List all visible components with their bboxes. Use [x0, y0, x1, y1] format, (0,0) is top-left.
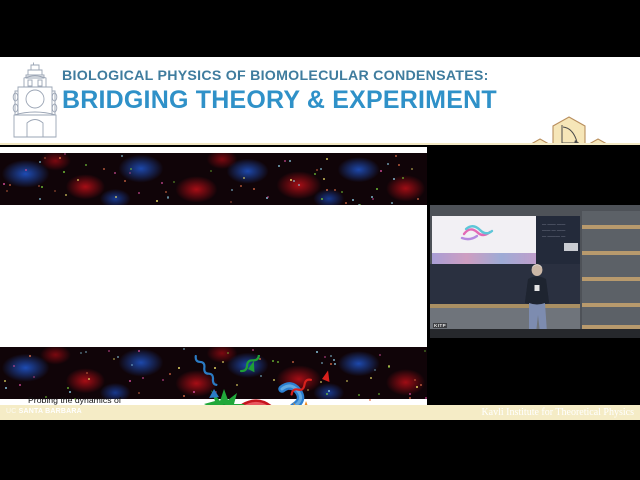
ucsb-label: SANTA BARBARA — [19, 408, 82, 415]
texture-speck — [346, 380, 348, 382]
texture-speck — [379, 354, 381, 356]
texture-speck — [88, 378, 90, 380]
texture-speck — [326, 158, 328, 160]
texture-speck — [278, 165, 280, 167]
texture-speck — [59, 157, 61, 159]
texture-speck — [420, 384, 422, 386]
texture-speck — [108, 350, 110, 352]
texture-speck — [117, 356, 119, 358]
texture-speck — [5, 387, 7, 389]
texture-speck — [129, 172, 131, 174]
texture-speck — [358, 394, 360, 396]
texture-speck — [173, 181, 175, 183]
texture-speck — [398, 164, 400, 166]
texture-speck — [289, 160, 291, 162]
texture-speck — [326, 189, 328, 191]
texture-speck — [402, 177, 404, 179]
texture-speck — [44, 157, 46, 159]
texture-speck — [85, 351, 87, 353]
texture-speck — [183, 348, 185, 350]
letterbox-top — [0, 0, 640, 57]
page-title: BIOLOGICAL PHYSICS OF BIOMOLECULAR CONDE… — [62, 67, 517, 115]
science-hexagon-icons — [520, 115, 638, 145]
texture-speck — [374, 369, 376, 371]
texture-speck — [293, 180, 295, 182]
video-frame: BIOLOGICAL PHYSICS OF BIOMOLECULAR CONDE… — [0, 0, 640, 480]
texture-speck — [409, 397, 411, 399]
ucsb-wordmark: UC SANTA BARBARA — [6, 408, 82, 415]
shelf-4 — [582, 303, 640, 307]
conference-header-banner: BIOLOGICAL PHYSICS OF BIOMOLECULAR CONDE… — [0, 57, 640, 145]
texture-speck — [85, 164, 87, 166]
texture-speck — [39, 161, 41, 163]
wall-shelving-unit — [582, 211, 640, 338]
texture-speck — [409, 393, 411, 395]
texture-speck — [227, 352, 229, 354]
texture-speck — [416, 386, 418, 388]
presentation-slide: Probing the dynamics of biomolecular com… — [0, 147, 427, 405]
shelf-1 — [582, 225, 640, 229]
texture-speck — [63, 171, 65, 173]
texture-speck — [64, 153, 66, 155]
ucsb-prefix: UC — [6, 408, 17, 415]
projected-slide-band — [432, 253, 536, 264]
kitp-watermark: KITP — [433, 323, 447, 328]
texture-speck — [298, 184, 300, 186]
texture-speck — [156, 200, 158, 202]
texture-speck — [77, 179, 79, 181]
texture-speck — [388, 365, 390, 367]
texture-speck — [334, 189, 336, 191]
texture-speck — [352, 199, 354, 201]
shelf-3 — [582, 277, 640, 281]
texture-speck — [138, 392, 140, 394]
texture-speck — [80, 352, 82, 354]
texture-speck — [142, 377, 144, 379]
coacervate-texture-band-top — [0, 153, 427, 205]
texture-speck — [41, 186, 43, 188]
texture-speck — [320, 168, 322, 170]
texture-speck — [165, 191, 167, 193]
blackboard-poster — [564, 243, 578, 251]
texture-speck — [316, 169, 318, 171]
texture-speck — [67, 387, 69, 389]
speaker-figure — [522, 263, 552, 335]
texture-speck — [243, 177, 245, 179]
polyelectrolyte-complex-illustration — [178, 355, 338, 405]
texture-speck — [13, 365, 15, 367]
texture-speck — [124, 180, 126, 182]
texture-speck — [395, 155, 397, 157]
texture-speck — [231, 189, 233, 191]
texture-speck — [9, 184, 11, 186]
texture-speck — [169, 373, 171, 375]
texture-speck — [387, 163, 389, 165]
letterbox-bottom — [0, 420, 640, 480]
conference-title-line2: BRIDGING THEORY & EXPERIMENT — [62, 86, 517, 115]
texture-speck — [138, 350, 140, 352]
texture-speck — [161, 182, 163, 184]
conference-title-line1: BIOLOGICAL PHYSICS OF BIOMOLECULAR CONDE… — [62, 67, 517, 85]
texture-speck — [121, 155, 123, 157]
texture-speck — [138, 192, 140, 194]
texture-speck — [39, 198, 41, 200]
texture-speck — [284, 160, 286, 162]
speaker-camera-feed[interactable]: — —— ———— — ——— ——— — — [430, 205, 640, 338]
texture-speck — [129, 380, 131, 382]
decay-graph-icon — [553, 117, 585, 145]
texture-speck — [54, 190, 56, 192]
texture-speck — [414, 379, 416, 381]
texture-speck — [4, 380, 6, 382]
texture-speck — [210, 170, 212, 172]
texture-speck — [86, 372, 88, 374]
shelf-2 — [582, 251, 640, 255]
texture-speck — [376, 188, 378, 190]
texture-speck — [19, 384, 21, 386]
texture-speck — [69, 391, 71, 393]
texture-speck — [115, 196, 117, 198]
texture-speck — [230, 201, 232, 203]
texture-speck — [240, 185, 242, 187]
slide-white-area — [0, 205, 427, 347]
texture-speck — [6, 190, 8, 192]
projected-molecule-graphic — [456, 220, 500, 244]
texture-speck — [372, 198, 374, 200]
blackboard-main — [430, 264, 580, 305]
texture-speck — [290, 179, 292, 181]
texture-speck — [162, 379, 164, 381]
texture-speck — [33, 376, 35, 378]
texture-speck — [411, 168, 413, 170]
header-bottom-rule — [0, 143, 640, 145]
floor — [430, 329, 640, 338]
kitp-full-name: Kavli Institute for Theoretical Physics — [481, 407, 634, 418]
texture-speck — [131, 364, 133, 366]
ucsb-storke-tower-logo — [8, 61, 62, 141]
texture-speck — [424, 350, 426, 352]
texture-speck — [425, 397, 427, 399]
footer-bar: UC SANTA BARBARA Kavli Institute for The… — [0, 405, 640, 421]
texture-speck — [103, 168, 105, 170]
texture-speck — [323, 178, 325, 180]
texture-speck — [3, 183, 5, 185]
texture-speck — [167, 197, 169, 199]
texture-speck — [345, 202, 347, 204]
texture-speck — [380, 170, 382, 172]
texture-speck — [369, 399, 371, 401]
texture-speck — [316, 351, 318, 353]
texture-speck — [65, 194, 67, 196]
texture-speck — [113, 358, 115, 360]
texture-speck — [417, 198, 419, 200]
texture-speck — [314, 173, 316, 175]
texture-speck — [252, 349, 254, 351]
texture-speck — [321, 198, 323, 200]
texture-speck — [370, 377, 372, 379]
texture-speck — [114, 172, 116, 174]
texture-speck — [341, 191, 343, 193]
blackboard-writing: — —— ———— — ——— ——— — — [542, 222, 578, 240]
projection-screen — [432, 216, 536, 264]
texture-speck — [393, 178, 395, 180]
texture-speck — [378, 393, 380, 395]
texture-speck — [25, 169, 27, 171]
texture-speck — [130, 168, 132, 170]
texture-speck — [29, 355, 31, 357]
texture-speck — [253, 188, 255, 190]
emission-arrow-red — [320, 370, 334, 384]
